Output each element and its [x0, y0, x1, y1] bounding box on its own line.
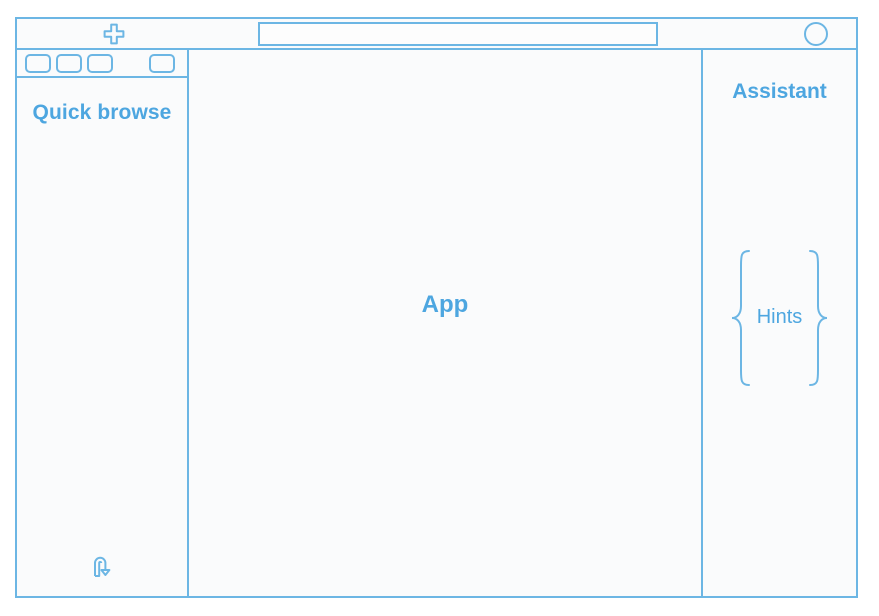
app-label: App [422, 291, 469, 319]
sidebar-toolbar-button-3[interactable] [87, 54, 113, 73]
main-app-panel[interactable]: App [189, 50, 703, 596]
plus-icon[interactable] [101, 21, 127, 47]
application-window: Quick browse App Assistant [15, 17, 858, 598]
title-bar [17, 19, 856, 50]
sidebar-title: Quick browse [17, 78, 187, 127]
right-brace-icon [806, 248, 830, 388]
sidebar-body: Quick browse [17, 78, 187, 596]
hints-block: Hints [703, 245, 856, 390]
sidebar-toolbar-button-1[interactable] [25, 54, 51, 73]
search-input[interactable] [258, 22, 658, 46]
avatar[interactable] [804, 22, 828, 46]
assistant-title: Assistant [732, 50, 827, 104]
hints-label: Hints [757, 306, 803, 329]
sidebar-footer [17, 540, 187, 596]
u-turn-arrow-icon[interactable] [87, 550, 117, 580]
assistant-panel: Assistant Hints [703, 50, 856, 596]
left-brace-icon [729, 248, 753, 388]
sidebar-toolbar-button-4[interactable] [149, 54, 175, 73]
sidebar-toolbar [17, 50, 187, 78]
body-area: Quick browse App Assistant [17, 50, 856, 596]
sidebar-panel: Quick browse [17, 50, 189, 596]
sidebar-toolbar-button-2[interactable] [56, 54, 82, 73]
